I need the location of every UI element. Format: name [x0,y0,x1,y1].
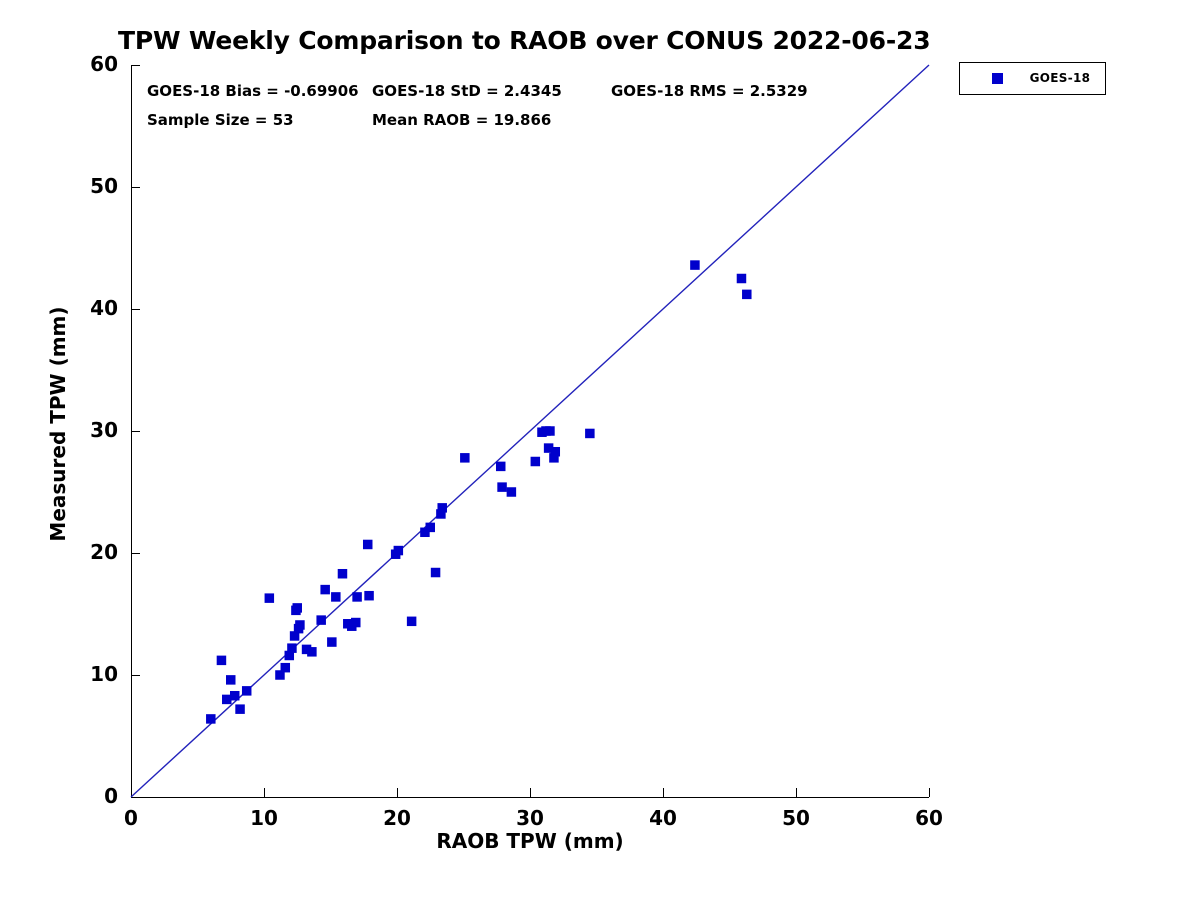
data-point [226,675,236,685]
data-point [460,453,470,463]
data-point [320,585,330,595]
data-point [407,617,417,627]
data-point [242,686,252,696]
data-point [327,637,337,647]
data-point [281,663,291,673]
x-tick-label-0: 0 [91,806,171,830]
x-tick-label-50: 50 [756,806,836,830]
data-point [217,656,227,666]
x-tick-label-30: 30 [490,806,570,830]
data-point [364,591,374,601]
data-point [230,691,240,701]
data-point [531,457,541,467]
data-point [307,647,317,657]
data-point [431,568,441,578]
data-point [316,615,326,625]
data-point [363,540,373,550]
data-point [690,260,700,270]
chart-figure: TPW Weekly Comparison to RAOB over CONUS… [0,0,1200,900]
data-point [507,487,517,497]
data-point [206,714,216,724]
legend: GOES-18 [959,62,1106,95]
legend-label-goes-18: GOES-18 [1022,71,1098,85]
data-point [293,603,303,613]
x-tick-label-20: 20 [357,806,437,830]
data-point [235,704,245,714]
data-point [551,447,561,457]
data-point [287,643,297,653]
data-point [737,274,747,284]
data-point [394,546,404,556]
x-tick-label-60: 60 [889,806,969,830]
data-point [437,503,447,513]
data-point [265,593,275,603]
data-point [585,429,595,439]
x-tick-label-40: 40 [623,806,703,830]
y-tick-label-60: 60 [58,52,118,76]
x-tick-label-10: 10 [224,806,304,830]
data-point [426,523,436,533]
scatter-plot-data [131,65,929,797]
x-tick-60 [929,788,930,797]
data-point [352,592,362,602]
x-axis-line [131,797,929,798]
data-point [351,618,361,628]
x-axis-label: RAOB TPW (mm) [0,829,1060,853]
data-point [496,462,506,472]
data-point [742,290,752,300]
y-axis-label: Measured TPW (mm) [46,104,70,744]
y-tick-label-0: 0 [58,784,118,808]
data-point [497,482,507,492]
data-point [331,592,341,602]
page-title: TPW Weekly Comparison to RAOB over CONUS… [118,26,978,55]
data-point [545,426,555,436]
data-point [295,620,305,630]
data-point [338,569,348,579]
legend-marker-goes-18 [992,73,1003,84]
